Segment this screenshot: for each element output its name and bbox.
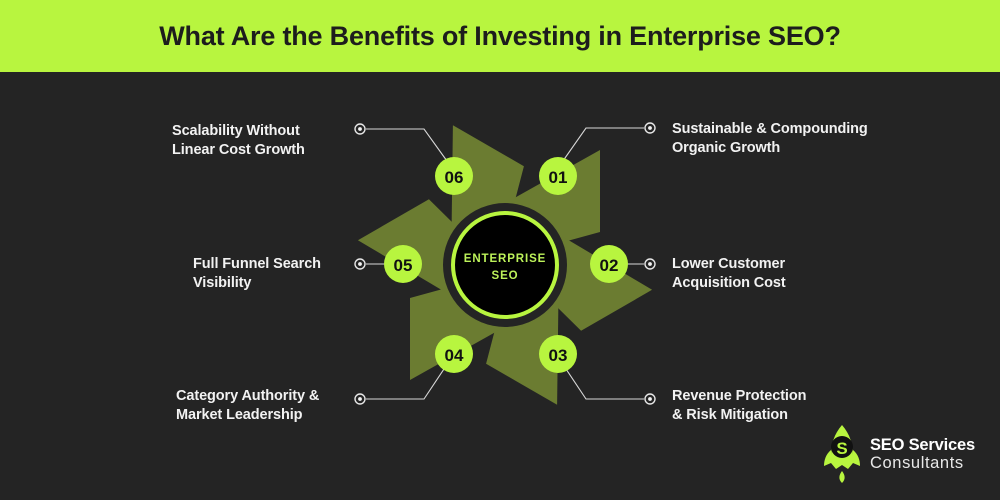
connector-line-01 — [558, 128, 644, 168]
center-label-line1: ENTERPRISE — [464, 253, 547, 265]
brand-logo[interactable]: S SEO Services Consultants — [822, 418, 997, 490]
benefit-label-06: Scalability Without Linear Cost Growth — [172, 122, 392, 160]
logo-line-2: Consultants — [870, 454, 975, 472]
benefit-label-04: Category Authority & Market Leadership — [176, 387, 396, 425]
header-band: What Are the Benefits of Investing in En… — [0, 0, 1000, 72]
badge-label-03: 03 — [549, 346, 568, 365]
connector-dot-core-02 — [648, 262, 652, 266]
badge-label-01: 01 — [549, 168, 568, 187]
benefit-label-02: Lower Customer Acquisition Cost — [672, 255, 922, 293]
connector-dot-core-01 — [648, 126, 652, 130]
benefit-label-05: Full Funnel Search Visibility — [193, 255, 393, 293]
badge-label-02: 02 — [600, 256, 619, 275]
benefit-label-01: Sustainable & Compounding Organic Growth — [672, 120, 922, 158]
center-circle[interactable] — [453, 213, 557, 317]
infographic-canvas: What Are the Benefits of Investing in En… — [0, 0, 1000, 500]
badge-label-06: 06 — [445, 168, 464, 187]
badge-label-05: 05 — [394, 256, 413, 275]
connector-dot-core-03 — [648, 397, 652, 401]
logo-text: SEO Services Consultants — [870, 436, 975, 473]
page-title: What Are the Benefits of Investing in En… — [159, 21, 841, 52]
center-label-line2: SEO — [492, 270, 519, 282]
logo-line-1: SEO Services — [870, 436, 975, 454]
rocket-icon: S — [822, 423, 862, 485]
badge-label-04: 04 — [445, 346, 464, 365]
rocket-icon-letter: S — [836, 439, 847, 458]
